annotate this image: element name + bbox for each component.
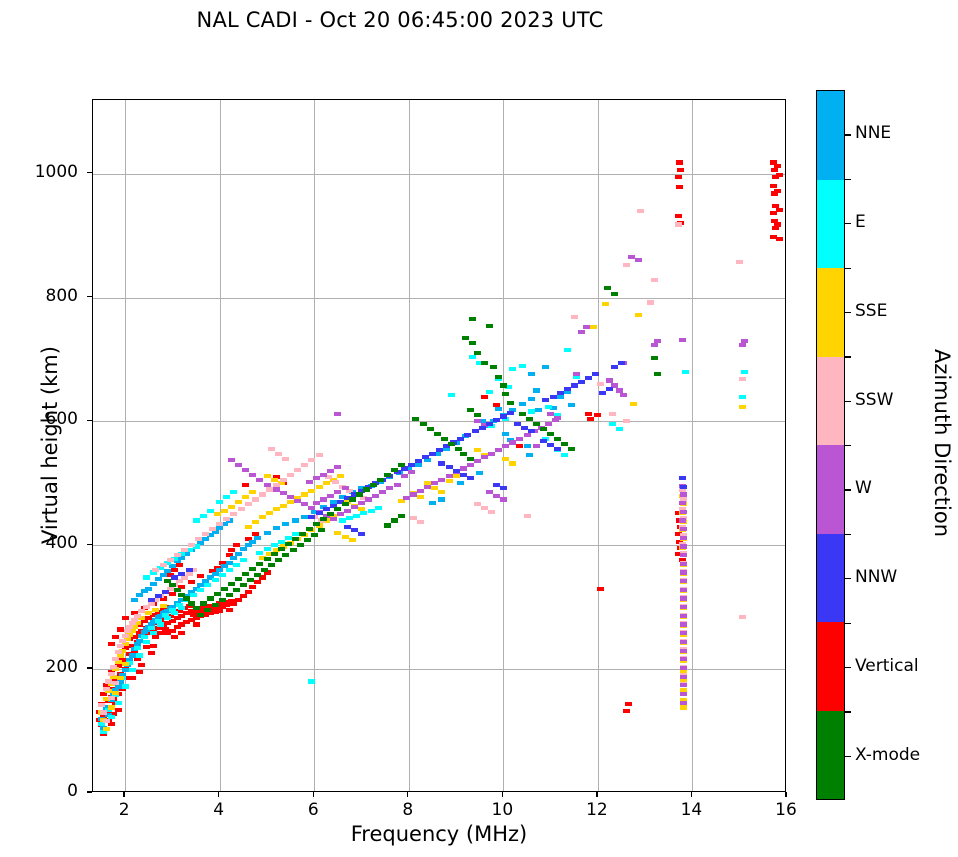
data-point-sse [308,489,315,493]
x-tick-label: 12 [567,800,627,820]
data-point-w [628,255,635,259]
data-point-w [620,393,627,397]
colorbar-segment-nne[interactable] [817,91,844,180]
data-point-w [365,497,372,501]
data-point-x-mode [306,527,313,531]
data-point-x-mode [412,417,419,421]
data-point-e [469,355,476,359]
data-point-e [204,583,211,587]
data-point-w [386,486,393,490]
data-point-nne [245,543,252,547]
data-point-sse [337,474,344,478]
data-point-e [240,558,247,562]
data-point-nne [169,564,176,568]
data-point-nne [535,408,542,412]
data-point-x-mode [228,582,235,586]
data-point-w [334,465,341,469]
data-point-vertical [171,635,178,639]
data-point-e [200,514,207,518]
data-point-nne [457,481,464,485]
colorbar-tick [845,223,851,224]
data-point-nne [301,515,308,519]
data-point-sse [242,495,249,499]
data-point-vertical [675,214,682,218]
data-point-vertical [122,616,129,620]
data-point-x-mode [455,447,462,451]
colorbar[interactable] [816,90,845,800]
data-point-e [122,684,129,688]
data-point-e [368,509,375,513]
data-point-nnw [528,429,535,433]
data-point-e [339,518,346,522]
data-point-sse [264,474,271,478]
data-point-w [358,501,365,505]
colorbar-boundary-tick [845,179,851,180]
x-tick [123,792,124,797]
data-point-vertical [597,587,604,591]
y-tick [87,791,92,792]
data-point-nnw [162,590,169,594]
data-point-x-mode [500,383,507,387]
colorbar-label-ssw: SSW [855,390,893,410]
data-point-nnw [542,398,549,402]
data-point-nne [528,397,535,401]
data-point-e [134,646,141,650]
data-point-nne [526,453,533,457]
data-point-ssw [308,458,315,462]
data-point-x-mode [235,577,242,581]
data-point-sse [635,313,642,317]
data-point-ssw [294,468,301,472]
data-point-vertical [770,211,777,215]
data-point-e [285,536,292,540]
data-point-x-mode [282,553,289,557]
data-point-x-mode [384,473,391,477]
data-point-x-mode [221,587,228,591]
data-point-nnw [308,515,315,519]
data-point-nne [264,531,271,535]
data-point-e [561,453,568,457]
x-tick [596,792,597,797]
colorbar-tick [845,756,851,757]
y-tick-label: 0 [0,781,78,801]
data-point-nnw [564,387,571,391]
data-point-x-mode [611,292,618,296]
data-point-w [680,622,687,626]
data-point-nnw [550,395,557,399]
data-point-w [337,512,344,516]
data-point-nnw [358,532,365,536]
data-point-x-mode [434,432,441,436]
data-point-vertical [138,663,145,667]
data-point-vertical [193,622,200,626]
data-point-nnw [429,452,436,456]
data-point-x-mode [469,341,476,345]
data-point-vertical [129,676,136,680]
data-point-sse [342,535,349,539]
data-point-w [509,440,516,444]
data-point-sse [160,604,167,608]
data-point-w [481,455,488,459]
data-point-nne [240,547,247,551]
data-point-ssw [651,278,658,282]
data-point-e [375,506,382,510]
data-point-vertical [171,568,178,572]
data-point-x-mode [204,608,211,612]
data-point-e [233,563,240,567]
data-point-x-mode [420,422,427,426]
data-point-x-mode [547,432,554,436]
data-point-w [242,468,249,472]
data-point-x-mode [441,437,448,441]
data-point-w [680,657,687,661]
data-point-vertical [585,412,592,416]
data-point-x-mode [278,547,285,551]
colorbar-segment-w[interactable] [817,445,844,534]
data-point-x-mode [391,468,398,472]
data-point-nnw [554,447,561,451]
data-point-nne [273,526,280,530]
data-point-ssw [176,579,183,583]
data-point-w [327,469,334,473]
data-point-x-mode [188,601,195,605]
data-point-sse [358,507,365,511]
data-point-vertical [136,670,143,674]
data-point-nnw [606,387,613,391]
data-point-w [467,463,474,467]
x-tick [218,792,219,797]
data-point-sse [122,662,129,666]
data-point-x-mode [654,372,661,376]
data-point-nne [438,497,445,501]
data-point-sse [323,481,330,485]
data-point-w [488,452,495,456]
data-point-ssw [103,687,110,691]
data-point-e [528,409,535,413]
x-tick-label: 14 [661,800,721,820]
data-point-w [651,343,658,347]
data-point-nne [542,365,549,369]
data-point-vertical [245,590,252,594]
data-point-e [157,622,164,626]
data-point-nnw [464,433,471,437]
data-point-w [680,588,687,592]
data-point-e [448,393,455,397]
data-point-sse [152,608,159,612]
x-tick [785,792,786,797]
data-point-w [401,474,408,478]
data-point-vertical [242,483,249,487]
data-point-x-mode [249,567,256,571]
data-point-nnw [557,391,564,395]
data-point-nnw [460,473,467,477]
data-point-x-mode [304,538,311,542]
data-point-nnw [479,426,486,430]
data-point-vertical [233,543,240,547]
data-point-nne [160,573,167,577]
data-point-sse [108,705,115,709]
data-point-ssw [174,553,181,557]
data-point-x-mode [507,401,514,405]
data-point-x-mode [554,437,561,441]
data-point-sse [446,479,453,483]
data-point-vertical [770,184,777,188]
data-point-w [679,338,686,342]
data-point-ssw [103,719,110,723]
data-point-x-mode [391,518,398,522]
data-point-ssw [112,681,119,685]
data-point-nnw [171,575,178,579]
data-point-w [502,444,509,448]
data-point-w [516,437,523,441]
data-point-w [545,422,552,426]
data-point-e [136,653,143,657]
data-point-e [100,730,107,734]
data-point-w [654,339,661,343]
colorbar-segment-sse[interactable] [817,268,844,357]
data-point-vertical [112,635,119,639]
data-point-sse [334,531,341,535]
data-point-x-mode [604,286,611,290]
data-point-vertical [134,657,141,661]
data-point-nnw [486,422,493,426]
data-point-w [417,489,424,493]
data-point-w [474,419,481,423]
data-point-x-mode [526,417,533,421]
data-point-x-mode [349,497,356,501]
data-point-x-mode [169,583,176,587]
data-point-vertical [254,580,261,584]
data-point-sse [112,691,119,695]
data-point-nnw [446,465,453,469]
data-point-w [524,433,531,437]
data-point-w [351,505,358,509]
data-point-nne [197,583,204,587]
data-point-e [143,575,150,579]
data-point-x-mode [519,412,526,416]
data-point-vertical [249,585,256,589]
colorbar-tick [845,401,851,402]
data-point-x-mode [327,512,334,516]
data-point-w [308,506,315,510]
data-point-nnw [415,459,422,463]
colorbar-boundary-tick [845,356,851,357]
colorbar-tick [845,134,851,135]
data-point-w [573,372,580,376]
data-point-vertical [117,627,124,631]
data-point-nnw [178,572,185,576]
data-point-e [207,509,214,513]
data-point-sse [103,727,110,731]
data-point-x-mode [247,578,254,582]
data-point-vertical [115,708,122,712]
data-point-x-mode [212,603,219,607]
data-point-w [680,640,687,644]
data-point-e [682,370,689,374]
data-point-ssw [98,703,105,707]
data-point-sse [680,705,687,709]
data-point-vertical [143,645,150,649]
data-point-e [609,422,616,426]
data-point-w [394,483,401,487]
data-point-w [680,510,687,514]
data-point-e [346,516,353,520]
data-point-nnw [351,528,358,532]
data-point-nne [282,522,289,526]
data-point-ssw [481,506,488,510]
data-point-ssw [202,532,209,536]
data-point-ssw [152,568,159,572]
data-point-vertical [623,709,630,713]
data-point-w [616,388,623,392]
data-point-w [306,480,313,484]
data-point-w [547,412,554,416]
data-point-w [680,649,687,653]
colorbar-label-x-mode: X-mode [855,745,920,765]
data-point-sse [145,611,152,615]
data-point-e [226,568,233,572]
data-point-x-mode [342,502,349,506]
data-point-w [294,499,301,503]
data-point-nne [415,463,422,467]
data-point-vertical [776,208,783,212]
data-point-nnw [599,391,606,395]
data-point-w [606,378,613,382]
x-tick [691,792,692,797]
data-point-nne [524,444,531,448]
colorbar-segment-e[interactable] [817,180,844,269]
data-point-vertical [176,563,183,567]
data-point-vertical [157,631,164,635]
colorbar-segment-ssw[interactable] [817,357,844,446]
data-point-w [680,701,687,705]
data-point-w [680,562,687,566]
data-point-x-mode [214,592,221,596]
data-point-vertical [625,702,632,706]
data-point-e [223,495,230,499]
data-point-nnw [467,476,474,480]
colorbar-boundary-tick [845,711,851,712]
data-point-x-mode [207,596,214,600]
data-point-x-mode [226,593,233,597]
data-point-x-mode [490,365,497,369]
data-point-ssw [160,563,167,567]
data-point-ssw [119,639,126,643]
data-point-sse [287,500,294,504]
data-point-vertical [772,226,779,230]
colorbar-title: Azimuth Direction [930,273,954,613]
data-point-ssw [647,300,654,304]
data-point-ssw [216,522,223,526]
data-point-sse [509,461,516,465]
data-point-nnw [611,365,618,369]
data-point-e [271,543,278,547]
colorbar-segment-vertical[interactable] [817,622,844,711]
x-tick-label: 4 [189,800,249,820]
data-point-sse [259,515,266,519]
data-point-nnw [457,437,464,441]
data-point-w [680,683,687,687]
colorbar-segment-x-mode[interactable] [817,711,844,800]
data-point-ssw [268,447,275,451]
scatter-points [93,100,785,791]
x-tick [502,792,503,797]
y-tick-label: 200 [0,657,78,677]
data-point-x-mode [460,452,467,456]
data-point-nnw [401,466,408,470]
data-point-ssw [316,453,323,457]
data-point-nne [519,402,526,406]
data-point-e [190,593,197,597]
data-point-nne [141,589,148,593]
data-point-ssw [143,605,150,609]
data-point-nnw [585,376,592,380]
data-point-x-mode [164,579,171,583]
data-point-w [320,473,327,477]
data-point-vertical [169,592,176,596]
data-point-ssw [623,263,630,267]
data-point-nne [235,552,242,556]
data-point-ssw [230,512,237,516]
data-point-x-mode [193,606,200,610]
data-point-nnw [438,461,445,465]
data-point-vertical [148,651,155,655]
data-point-nne [249,540,256,544]
data-point-vertical [216,609,223,613]
data-point-x-mode [462,336,469,340]
x-tick-label: 8 [378,800,438,820]
data-point-x-mode [495,375,502,379]
data-point-e [564,348,571,352]
data-point-w [403,496,410,500]
data-point-ssw [739,377,746,381]
data-point-sse [316,485,323,489]
data-point-x-mode [268,563,275,567]
data-point-ssw [609,412,616,416]
data-point-vertical [771,168,778,172]
data-point-nnw [679,476,686,480]
data-point-vertical [587,417,594,421]
colorbar-boundary-tick [845,623,851,624]
data-point-nne [115,684,122,688]
data-point-w [680,605,687,609]
data-point-w [408,470,415,474]
data-point-ssw [181,575,188,579]
data-point-w [438,478,445,482]
data-point-vertical [178,631,185,635]
data-point-ssw [524,514,531,518]
colorbar-segment-nnw[interactable] [817,534,844,623]
x-tick-label: 2 [94,800,154,820]
data-point-w [533,444,540,448]
data-point-nnw [514,422,521,426]
data-point-ssw [282,457,289,461]
data-point-w [679,518,686,522]
data-point-x-mode [384,523,391,527]
plot-area[interactable] [92,99,786,792]
data-point-e [360,511,367,515]
data-point-nne [164,569,171,573]
data-point-ssw [332,480,339,484]
data-point-ssw [301,463,308,467]
data-point-e [353,514,360,518]
data-point-e [264,547,271,551]
data-point-sse [235,500,242,504]
data-point-x-mode [313,522,320,526]
data-point-vertical [228,548,235,552]
y-tick [87,544,92,545]
data-point-e [292,532,299,536]
